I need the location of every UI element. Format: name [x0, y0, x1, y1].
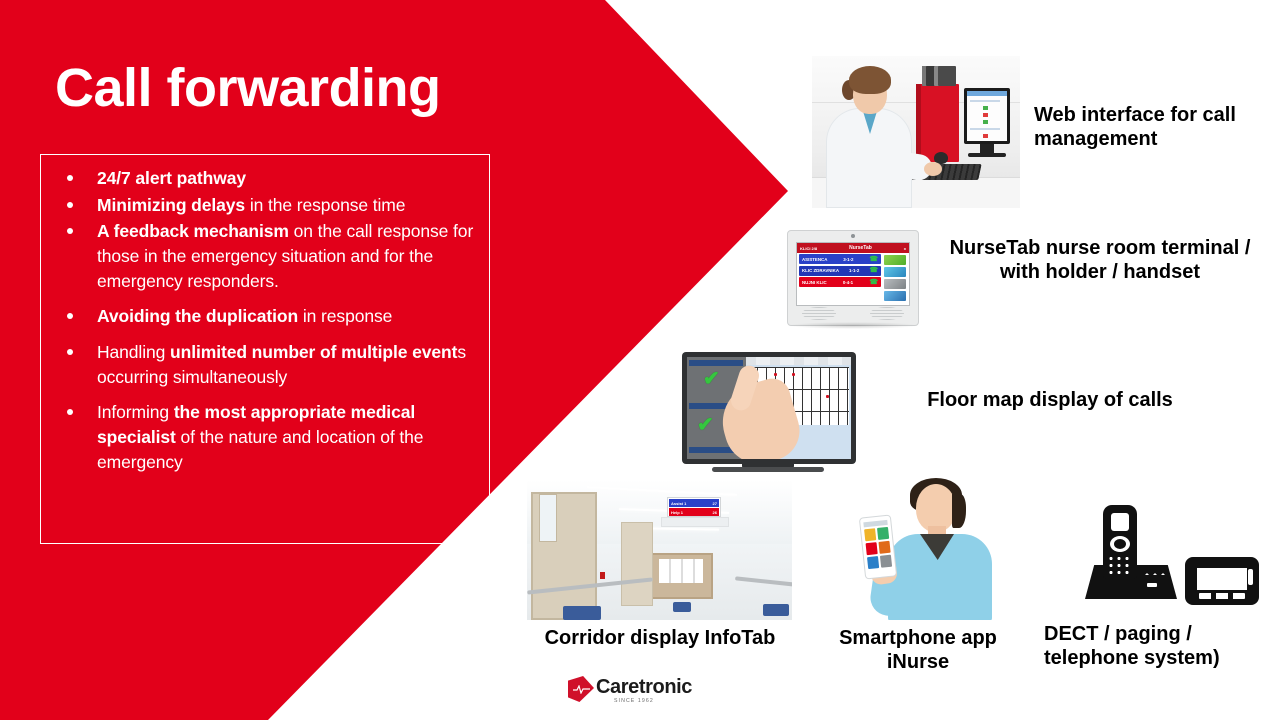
list-item-mid: unlimited number of multiple event — [170, 342, 457, 362]
caretronic-logo: Caretronic SINCE 1962 — [568, 674, 698, 708]
list-item: 24/7 alert pathway — [55, 166, 495, 191]
infotab-value: 26 — [713, 510, 717, 515]
pager-buttons — [1199, 593, 1245, 599]
app-tile-grey[interactable] — [880, 555, 892, 568]
list-item-pre: Handling — [97, 342, 170, 362]
call-name: NUJNI KLIC — [802, 280, 827, 285]
pager-screen — [1195, 566, 1249, 592]
nursetab-left-label: KLICI 2/8 — [800, 246, 817, 251]
list-item: A feedback mechanism on the call respons… — [55, 219, 495, 293]
bullet-dot-icon — [67, 175, 73, 181]
photo-smartphone-nurse — [848, 478, 1008, 620]
phone-icon: ☎ — [869, 267, 878, 274]
bullet-dot-icon — [67, 202, 73, 208]
door-window — [539, 494, 557, 542]
speaker-grille-left-icon — [802, 307, 836, 320]
list-item-bold: 24/7 alert pathway — [97, 168, 246, 188]
app-tile-green[interactable] — [877, 527, 889, 540]
dect-keypad-icon — [1107, 555, 1133, 577]
photo-binders — [922, 66, 956, 86]
caption-corridor: Corridor display InfoTab — [512, 627, 808, 651]
caption-smartphone: Smartphone app iNurse — [818, 627, 1018, 674]
list-item-bold: Avoiding the duplication — [97, 306, 298, 326]
page-title: Call forwarding — [55, 60, 441, 117]
floormap-screen: ✔ ✔ — [687, 357, 851, 459]
infotab-row-help: Help 1 26 — [669, 508, 719, 516]
nursetab-call-row[interactable]: NUJNI KLIC 0-4-1 ☎ — [799, 277, 881, 287]
tile-azure[interactable] — [884, 291, 906, 301]
dect-navigation-center — [1114, 539, 1126, 549]
infotab-row-assist: Assist 1 27 — [669, 499, 719, 507]
waiting-chair — [763, 604, 789, 616]
caption-floormap: Floor map display of calls — [880, 389, 1220, 413]
list-item-pre: Informing — [97, 402, 174, 422]
power-led-icon — [851, 234, 855, 238]
dect-base-keys — [1143, 571, 1165, 575]
nursetab-call-row[interactable]: KLIC ZDRAVNIKA 1-1-2 ☎ — [799, 266, 881, 276]
alarm-marker-icon — [826, 395, 829, 398]
call-code: 0-4-1 — [843, 280, 853, 285]
bullet-list: 24/7 alert pathway Minimizing delays in … — [55, 166, 495, 476]
floormap-base — [712, 467, 824, 472]
caption-web-interface: Web interface for call management — [1034, 104, 1264, 151]
pager-icon — [1185, 557, 1259, 605]
floormap-toolbar[interactable] — [746, 357, 851, 365]
infotab-mount — [661, 517, 729, 527]
alarm-marker-icon — [774, 373, 777, 376]
bullet-dot-icon — [67, 409, 73, 415]
app-tile-blue[interactable] — [867, 556, 879, 569]
screen-row — [970, 100, 1000, 102]
nurse-hair-side — [952, 494, 966, 528]
photo-monitor — [964, 88, 1010, 144]
fire-alarm-icon — [600, 572, 605, 579]
call-code: 1-1-2 — [849, 268, 859, 273]
photo-corridor: Assist 1 27 Help 1 26 — [527, 480, 792, 620]
photo-monitor-screen — [967, 91, 1007, 141]
infotab-label: Assist 1 — [671, 501, 686, 506]
dect-screen — [1111, 513, 1129, 531]
tile-blue[interactable] — [884, 267, 906, 277]
tile-grey[interactable] — [884, 279, 906, 289]
call-name: KLIC ZDRAVNIKA — [802, 268, 839, 273]
infotab-display: Assist 1 27 Help 1 26 — [667, 497, 721, 517]
screen-status-ok — [983, 120, 988, 124]
phone-icon: ☎ — [869, 279, 878, 286]
screen-status-alarm — [983, 113, 988, 117]
list-item: Handling unlimited number of multiple ev… — [55, 340, 495, 389]
bullet-dot-icon — [67, 228, 73, 234]
infotab-value: 27 — [713, 501, 717, 506]
nursetab-shortcut-tiles — [884, 255, 906, 303]
pager-side-button — [1248, 569, 1253, 585]
nursetab-screen: KLICI 2/8 NurseTab x ASISTENCA 3-1-2 ☎ K… — [796, 242, 910, 306]
app-tile-red[interactable] — [866, 542, 878, 555]
smartphone-device — [859, 514, 897, 579]
photo-nurse-hair — [849, 66, 891, 94]
app-icon-grid — [864, 527, 892, 569]
list-item: Informing the most appropriate medical s… — [55, 400, 495, 474]
list-item-bold: A feedback mechanism — [97, 221, 289, 241]
check-icon: ✔ — [697, 415, 714, 435]
app-tile-amber[interactable] — [878, 541, 890, 554]
tile-green[interactable] — [884, 255, 906, 265]
panel-titlebar — [689, 360, 743, 366]
bullet-dot-icon — [67, 349, 73, 355]
speaker-grille-right-icon — [870, 307, 904, 320]
slide-root: Call forwarding 24/7 alert pathway Minim… — [0, 0, 1280, 720]
screen-row — [970, 128, 1000, 130]
call-name: ASISTENCA — [802, 257, 827, 262]
infotab-label: Help 1 — [671, 510, 683, 515]
app-tile-orange[interactable] — [864, 528, 876, 541]
list-item-bold: Minimizing delays — [97, 195, 245, 215]
photo-nursetab-terminal: KLICI 2/8 NurseTab x ASISTENCA 3-1-2 ☎ K… — [787, 230, 919, 326]
phone-icon: ☎ — [869, 256, 878, 263]
icon-dect-paging — [1085, 505, 1255, 607]
screen-header-bar — [967, 91, 1007, 96]
nursetab-titlebar: KLICI 2/8 NurseTab x — [797, 243, 909, 253]
photo-red-cabinet — [917, 84, 959, 162]
photo-nurse-hand — [924, 162, 942, 176]
corridor-door-second — [621, 522, 653, 606]
alarm-marker-icon — [792, 373, 795, 376]
caption-dect: DECT / paging / telephone system) — [1044, 623, 1266, 670]
nursetab-title: NurseTab — [849, 245, 872, 251]
nursetab-close-icon[interactable]: x — [904, 246, 906, 251]
logo-tagline: SINCE 1962 — [614, 698, 654, 704]
screen-status-ok — [983, 106, 988, 110]
photo-web-interface — [812, 56, 1020, 208]
screen-status-alarm — [983, 134, 988, 138]
list-item: Minimizing delays in the response time — [55, 193, 495, 218]
waiting-chair — [563, 606, 601, 620]
caption-nursetab: NurseTab nurse room terminal / with hold… — [930, 237, 1270, 284]
check-icon: ✔ — [703, 369, 720, 389]
waiting-chair — [673, 602, 691, 612]
nurse-head — [916, 484, 956, 532]
list-item-rest: in response — [298, 306, 392, 326]
nursetab-call-row[interactable]: ASISTENCA 3-1-2 ☎ — [799, 254, 881, 264]
photo-monitor-base — [968, 153, 1006, 157]
list-item-rest: in the response time — [245, 195, 405, 215]
dect-base-slot — [1147, 583, 1157, 587]
logo-wordmark: Caretronic — [596, 676, 692, 698]
photo-floormap-display: ✔ ✔ — [682, 352, 856, 464]
nursetab-shadow — [787, 322, 919, 329]
corridor-end-doors — [649, 553, 713, 599]
heartbeat-icon — [573, 685, 590, 694]
bullet-dot-icon — [67, 313, 73, 319]
list-item: Avoiding the duplication in response — [55, 304, 495, 329]
call-code: 3-1-2 — [843, 257, 853, 262]
